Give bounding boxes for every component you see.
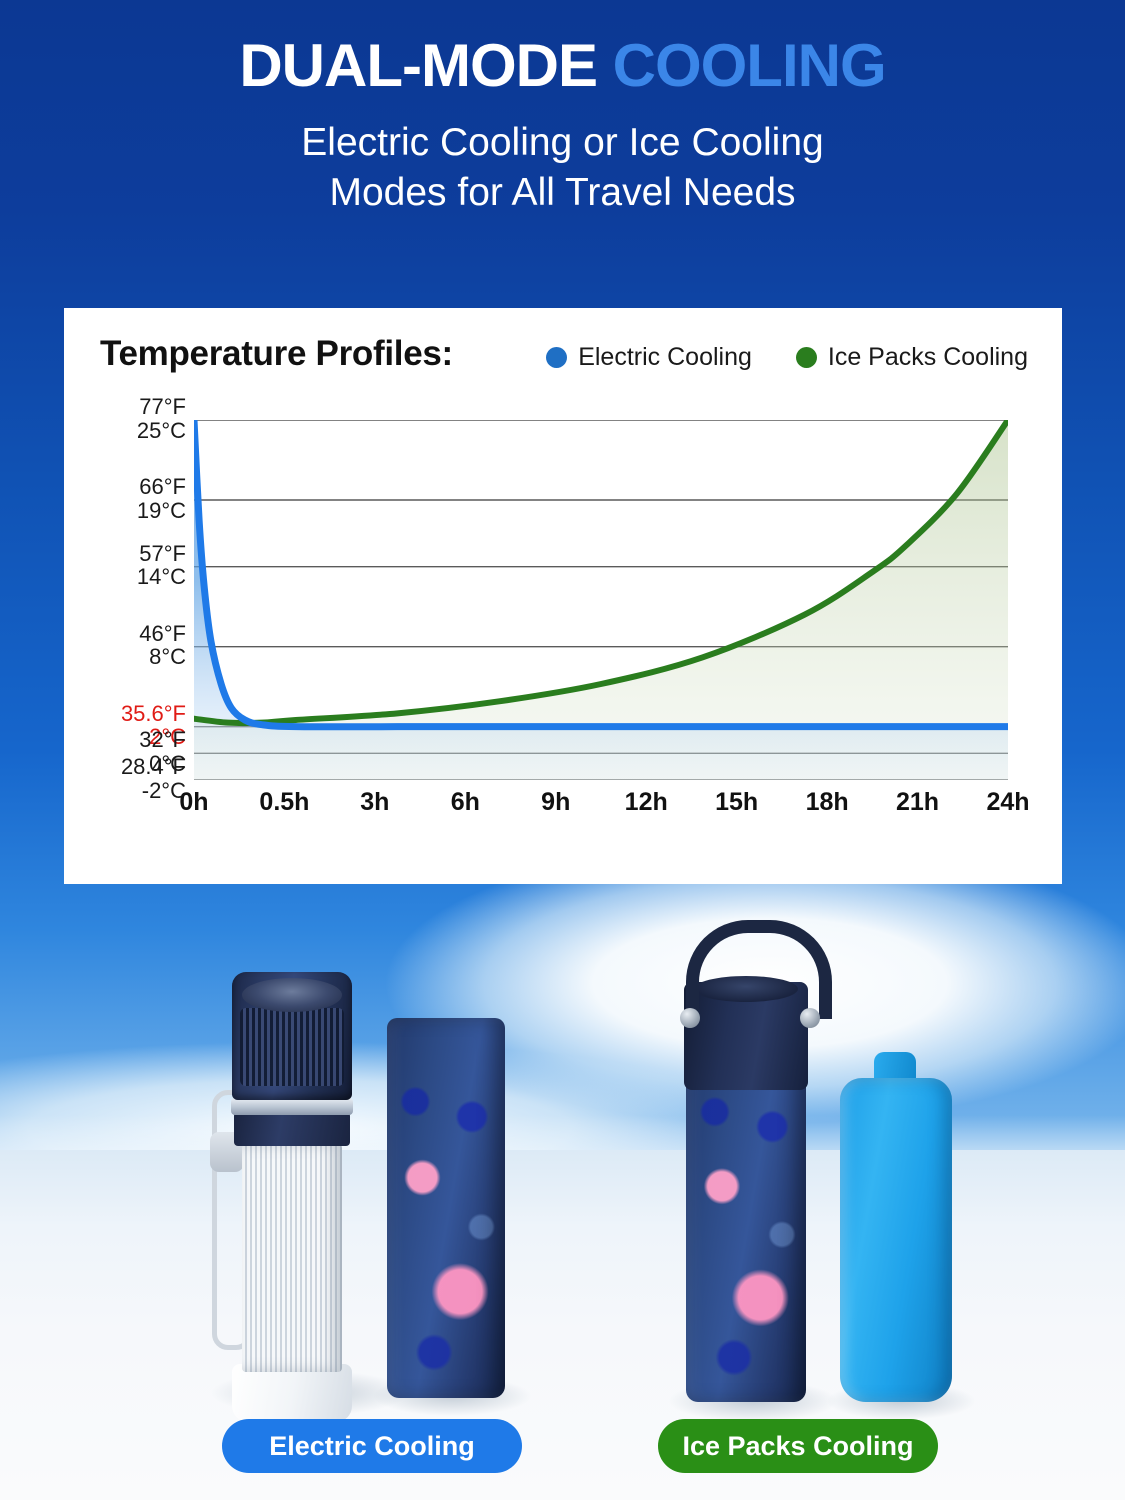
handle-rivet-left xyxy=(680,1008,700,1028)
chart-plot-area xyxy=(194,420,1008,780)
chart-title: Temperature Profiles: xyxy=(100,334,453,374)
x-tick-0: 0h xyxy=(179,788,208,817)
y-tick-fahrenheit: 66°F xyxy=(86,475,186,499)
page-subtitle-line1: Electric Cooling or Ice Cooling xyxy=(0,118,1125,168)
x-tick-2: 3h xyxy=(360,788,389,817)
x-tick-6: 15h xyxy=(715,788,758,817)
fan-grille xyxy=(242,978,342,1012)
y-tick-6: 28.4°F-2°C xyxy=(86,755,186,802)
chart-legend: Electric Cooling Ice Packs Cooling xyxy=(546,343,1028,372)
x-tick-8: 21h xyxy=(896,788,939,817)
fan-vents xyxy=(240,1008,344,1086)
mode-button-row: Electric Cooling Ice Packs Cooling xyxy=(0,1419,1125,1477)
electric-cooling-button[interactable]: Electric Cooling xyxy=(222,1419,522,1473)
legend-item-electric: Electric Cooling xyxy=(546,343,752,372)
chart-y-axis: 77°F25°C66°F19°C57°F14°C46°F8°C35.6°F2°C… xyxy=(86,420,186,780)
x-tick-9: 24h xyxy=(986,788,1029,817)
chart-plot-wrapper: 77°F25°C66°F19°C57°F14°C46°F8°C35.6°F2°C… xyxy=(64,420,1062,840)
chart-svg xyxy=(194,420,1008,780)
x-tick-1: 0.5h xyxy=(259,788,309,817)
temperature-chart-card: Temperature Profiles: Electric Cooling I… xyxy=(64,308,1062,884)
blue-ice-pack xyxy=(840,1078,952,1402)
y-tick-fahrenheit: 46°F xyxy=(86,622,186,646)
handle-rivet-right xyxy=(800,1008,820,1028)
fan-base xyxy=(232,1364,352,1422)
y-tick-celsius: 14°C xyxy=(86,565,186,589)
page-subtitle: Electric Cooling or Ice Cooling Modes fo… xyxy=(0,118,1125,218)
fan-body xyxy=(242,1144,342,1372)
floral-insulated-bottle xyxy=(387,1018,505,1398)
fan-collar xyxy=(234,1112,350,1146)
y-tick-3: 46°F8°C xyxy=(86,622,186,669)
y-tick-fahrenheit: 57°F xyxy=(86,542,186,566)
legend-label-ice-packs: Ice Packs Cooling xyxy=(828,343,1028,372)
legend-label-electric: Electric Cooling xyxy=(578,343,752,372)
x-tick-5: 12h xyxy=(625,788,668,817)
y-tick-celsius: -2°C xyxy=(86,779,186,803)
chart-x-axis: 0h0.5h3h6h9h12h15h18h21h24h xyxy=(194,782,1008,826)
page-title-part2: COOLING xyxy=(613,32,886,99)
legend-dot-ice-packs-icon xyxy=(796,347,817,368)
y-tick-fahrenheit: 77°F xyxy=(86,395,186,419)
y-tick-fahrenheit: 32°F xyxy=(86,728,186,752)
legend-dot-electric-icon xyxy=(546,347,567,368)
y-tick-celsius: 25°C xyxy=(86,419,186,443)
header: DUAL-MODE COOLING Electric Cooling or Ic… xyxy=(0,36,1125,218)
y-tick-celsius: 19°C xyxy=(86,499,186,523)
x-tick-4: 9h xyxy=(541,788,570,817)
page-title: DUAL-MODE COOLING xyxy=(0,36,1125,96)
product-photo-group xyxy=(0,900,1125,1420)
y-tick-2: 57°F14°C xyxy=(86,542,186,589)
page-subtitle-line2: Modes for All Travel Needs xyxy=(0,168,1125,218)
y-tick-fahrenheit: 28.4°F xyxy=(86,755,186,779)
chart-header: Temperature Profiles: Electric Cooling I… xyxy=(100,334,1030,388)
electric-cooling-fan-module xyxy=(232,972,352,1392)
x-tick-7: 18h xyxy=(806,788,849,817)
x-tick-3: 6h xyxy=(451,788,480,817)
y-tick-celsius: 8°C xyxy=(86,645,186,669)
ice-packs-cooling-button[interactable]: Ice Packs Cooling xyxy=(658,1419,938,1473)
fan-ring xyxy=(231,1098,353,1115)
carry-handle xyxy=(686,920,832,1019)
y-tick-0: 77°F25°C xyxy=(86,395,186,442)
y-tick-1: 66°F19°C xyxy=(86,475,186,522)
fan-cap xyxy=(232,972,352,1100)
legend-item-ice-packs: Ice Packs Cooling xyxy=(796,343,1028,372)
page-title-part1: DUAL-MODE xyxy=(239,32,612,99)
y-tick-fahrenheit: 35.6°F xyxy=(86,702,186,726)
